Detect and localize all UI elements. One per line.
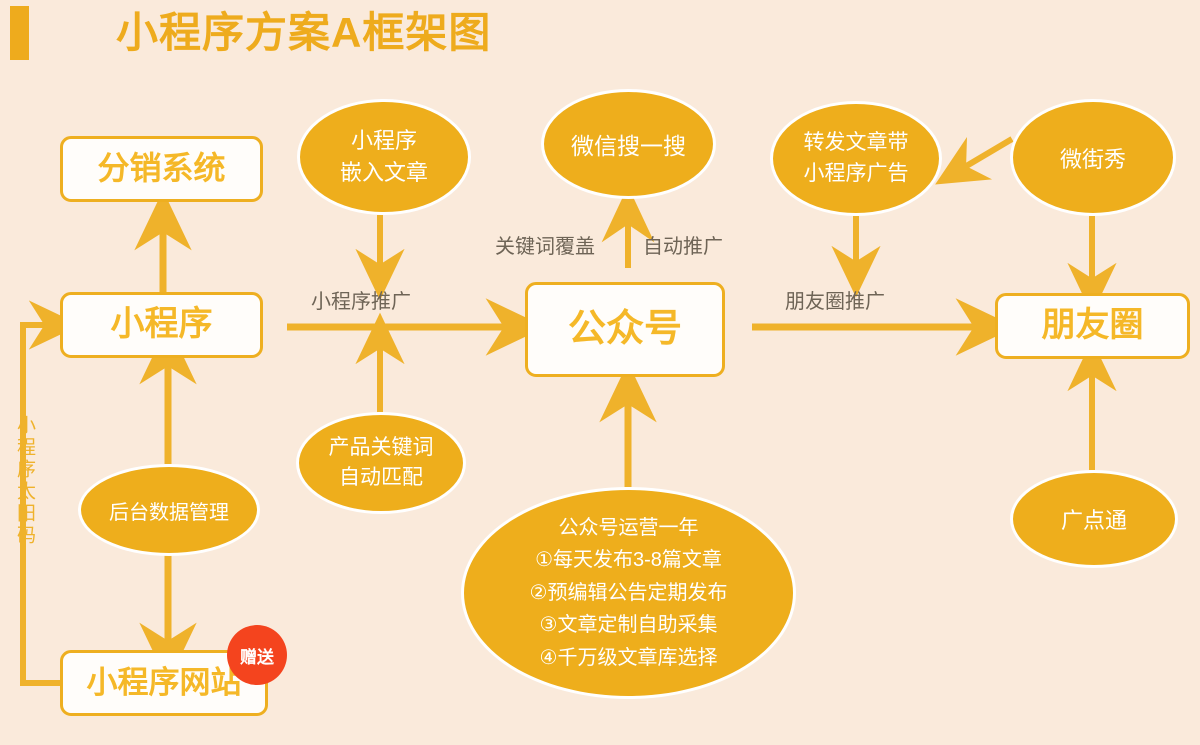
- diagram-canvas: 小程序方案A框架图: [0, 0, 1200, 745]
- node-weijiexiu[interactable]: 微街秀: [1010, 99, 1176, 216]
- label-keyword-coverage: 关键词覆盖: [495, 230, 595, 259]
- node-distribution-system-label: 分销系统: [97, 151, 225, 186]
- node-operation-plan-line-2: ①每天发布3-8篇文章: [535, 544, 722, 576]
- node-backend-data[interactable]: 后台数据管理: [78, 464, 260, 556]
- node-mini-program-label: 小程序: [111, 306, 213, 343]
- node-operation-plan-line-1: 公众号运营一年: [559, 512, 699, 544]
- node-operation-plan-line-4: ③文章定制自助采集: [540, 609, 718, 641]
- node-weijiexiu-line-1: 微街秀: [1060, 142, 1126, 174]
- node-operation-plan-line-3: ②预编辑公告定期发布: [530, 577, 728, 609]
- node-embed-article-line-2: 嵌入文章: [340, 157, 428, 189]
- node-operation-plan[interactable]: 公众号运营一年 ①每天发布3-8篇文章 ②预编辑公告定期发布 ③文章定制自助采集…: [461, 487, 796, 699]
- page-title: 小程序方案A框架图: [116, 6, 491, 60]
- node-distribution-system[interactable]: 分销系统: [60, 136, 263, 202]
- node-keyword-match-line-2: 自动匹配: [339, 463, 423, 493]
- node-moments-label: 朋友圈: [1042, 307, 1144, 344]
- node-forward-article-ad-line-2: 小程序广告: [804, 159, 909, 189]
- node-backend-data-line-1: 后台数据管理: [109, 496, 229, 525]
- node-wechat-search[interactable]: 微信搜一搜: [541, 89, 716, 199]
- node-moments[interactable]: 朋友圈: [995, 293, 1190, 359]
- node-forward-article-ad[interactable]: 转发文章带 小程序广告: [770, 101, 942, 216]
- node-operation-plan-line-5: ④千万级文章库选择: [540, 642, 718, 674]
- label-mini-program-promotion: 小程序推广: [311, 285, 411, 314]
- node-guangdiantong-line-1: 广点通: [1061, 503, 1127, 535]
- node-keyword-match-line-1: 产品关键词: [329, 433, 434, 463]
- node-embed-article[interactable]: 小程序 嵌入文章: [297, 99, 471, 215]
- node-official-account-label: 公众号: [568, 309, 682, 351]
- label-auto-promotion: 自动推广: [643, 230, 723, 259]
- node-guangdiantong[interactable]: 广点通: [1010, 470, 1178, 568]
- badge-gift: 赠送: [227, 625, 287, 685]
- node-mini-program[interactable]: 小程序: [60, 292, 263, 358]
- node-mini-program-site-label: 小程序网站: [87, 666, 242, 700]
- node-wechat-search-line-1: 微信搜一搜: [571, 127, 686, 161]
- node-official-account[interactable]: 公众号: [525, 282, 725, 377]
- node-keyword-match[interactable]: 产品关键词 自动匹配: [296, 412, 466, 514]
- label-moments-promotion: 朋友圈推广: [785, 285, 885, 314]
- title-accent-bar: [10, 6, 29, 60]
- node-embed-article-line-1: 小程序: [351, 125, 417, 157]
- node-forward-article-ad-line-1: 转发文章带: [804, 128, 909, 158]
- label-sun-code: 小程序太阳码: [15, 415, 34, 547]
- edge-weijiexiu-to-forward: [963, 139, 1012, 168]
